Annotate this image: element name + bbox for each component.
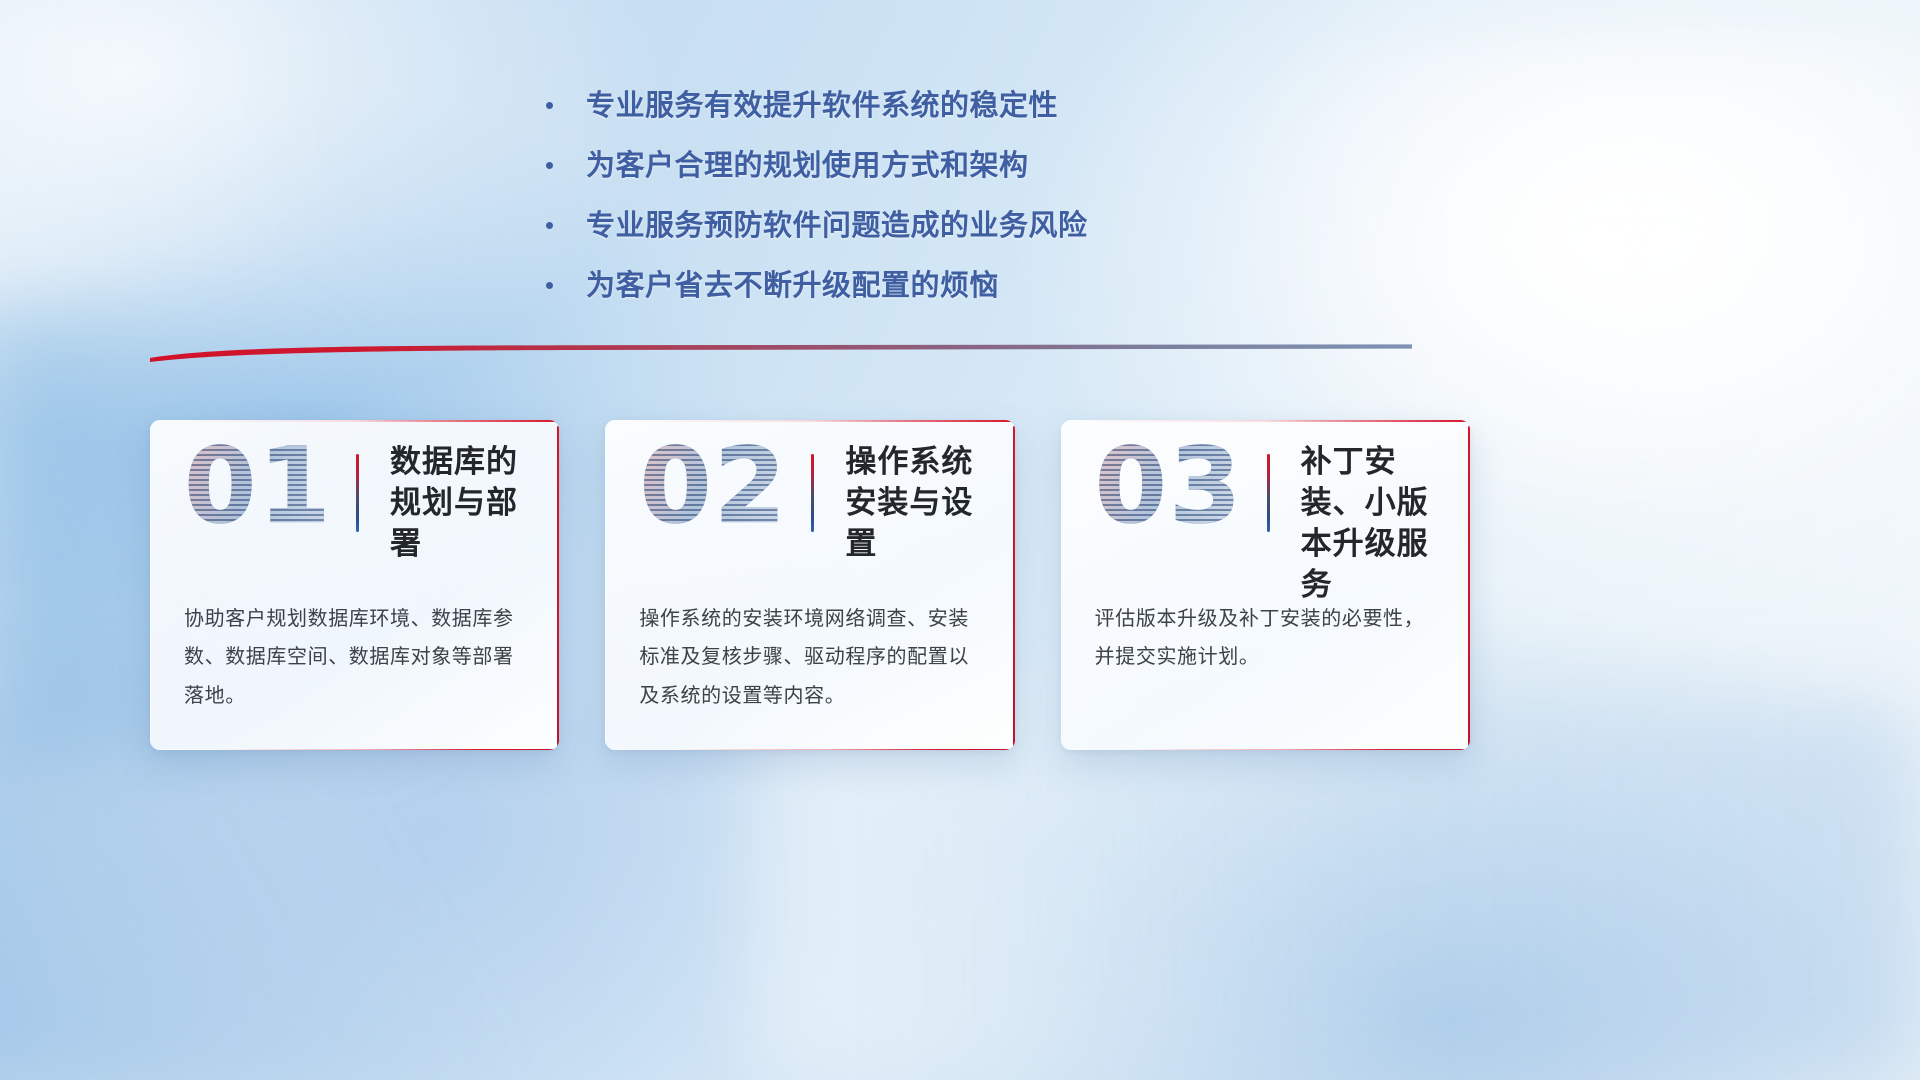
card-description: 评估版本升级及补丁安装的必要性，并提交实施计划。 xyxy=(1095,600,1444,677)
card-header: 02 操作系统安装与设置 xyxy=(605,420,1014,570)
background-light-streak xyxy=(0,700,540,1080)
bullet-item-label: 专业服务有效提升软件系统的稳定性 xyxy=(586,90,1058,122)
card-header: 03 补丁安装、小版本升级服务 xyxy=(1061,420,1470,570)
benefits-bullet-list: 专业服务有效提升软件系统的稳定性 为客户合理的规划使用方式和架构 专业服务预防软… xyxy=(540,86,1440,326)
background-light-streak xyxy=(0,0,560,317)
bullet-item-label: 为客户合理的规划使用方式和架构 xyxy=(586,150,1029,182)
card-header: 01 数据库的规划与部署 xyxy=(150,420,559,570)
section-divider xyxy=(150,344,1412,366)
card-number-watermark: 03 xyxy=(1095,434,1244,538)
card-accent-bar xyxy=(356,454,359,532)
slide-canvas: 专业服务有效提升软件系统的稳定性 为客户合理的规划使用方式和架构 专业服务预防软… xyxy=(0,0,1920,1080)
bullet-item-label: 为客户省去不断升级配置的烦恼 xyxy=(586,270,999,302)
bullet-item: 为客户合理的规划使用方式和架构 xyxy=(540,146,1440,186)
service-card-list: 01 数据库的规划与部署 协助客户规划数据库环境、数据库参数、数据库空间、数据库… xyxy=(150,420,1470,750)
background-light-streak xyxy=(760,700,1920,1080)
card-number-watermark: 01 xyxy=(184,434,333,538)
bullet-item-label: 专业服务预防软件问题造成的业务风险 xyxy=(586,210,1088,242)
bullet-dot-icon xyxy=(546,282,553,289)
card-title: 操作系统安装与设置 xyxy=(845,442,998,565)
bullet-item: 为客户省去不断升级配置的烦恼 xyxy=(540,266,1440,306)
bullet-dot-icon xyxy=(546,102,553,109)
bullet-item: 专业服务预防软件问题造成的业务风险 xyxy=(540,206,1440,246)
card-description: 操作系统的安装环境网络调查、安装标准及复核步骤、驱动程序的配置以及系统的设置等内… xyxy=(639,600,988,715)
bullet-item: 专业服务有效提升软件系统的稳定性 xyxy=(540,86,1440,126)
bullet-dot-icon xyxy=(546,162,553,169)
card-title: 数据库的规划与部署 xyxy=(390,442,543,565)
card-accent-bar xyxy=(1267,454,1270,532)
bullet-dot-icon xyxy=(546,222,553,229)
service-card[interactable]: 03 补丁安装、小版本升级服务 评估版本升级及补丁安装的必要性，并提交实施计划。 xyxy=(1061,420,1470,750)
service-card[interactable]: 01 数据库的规划与部署 协助客户规划数据库环境、数据库参数、数据库空间、数据库… xyxy=(150,420,559,750)
card-title: 补丁安装、小版本升级服务 xyxy=(1301,442,1454,606)
card-accent-bar xyxy=(811,454,814,532)
card-description: 协助客户规划数据库环境、数据库参数、数据库空间、数据库对象等部署落地。 xyxy=(184,600,533,715)
service-card[interactable]: 02 操作系统安装与设置 操作系统的安装环境网络调查、安装标准及复核步骤、驱动程… xyxy=(605,420,1014,750)
card-number-watermark: 02 xyxy=(639,434,788,538)
